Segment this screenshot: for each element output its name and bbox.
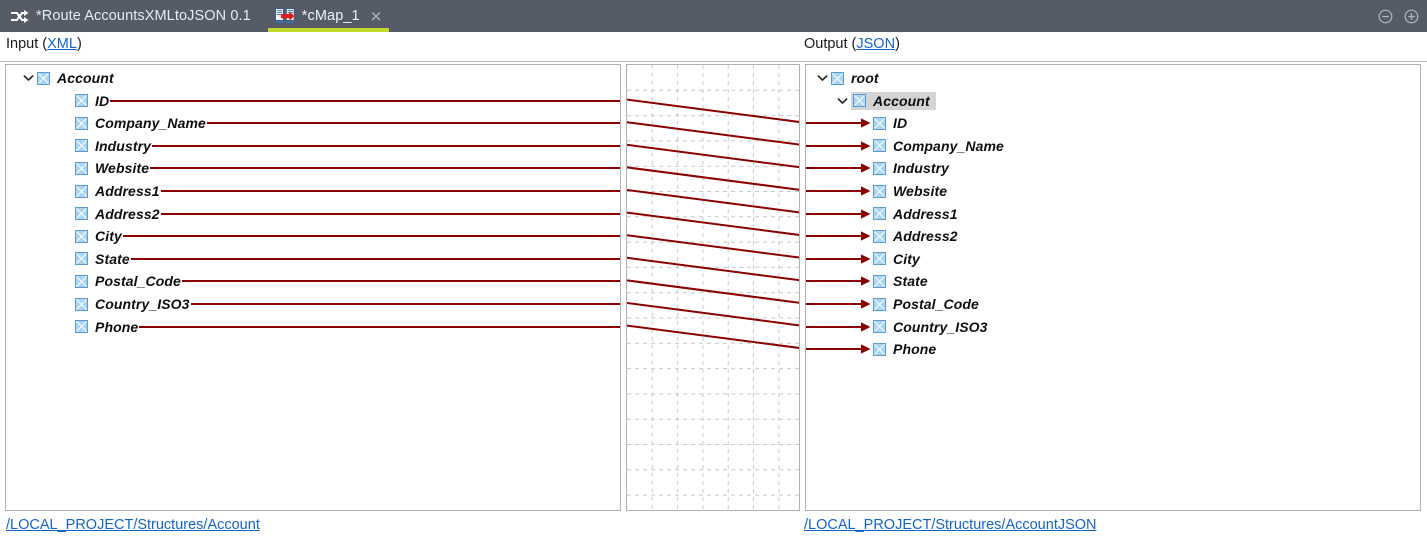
json-element-icon [853,94,866,107]
map-transform-icon [275,7,295,25]
tab-label: *cMap_1 [302,8,360,24]
xml-element-icon [75,275,88,288]
minimize-button[interactable] [1378,9,1393,24]
xml-element-icon [75,207,88,220]
output-label-suffix: ) [895,36,900,52]
mapping-link[interactable] [627,235,800,258]
input-field-label: Website [95,160,149,176]
output-tree-row-group[interactable]: Account [806,90,936,112]
chevron-down-icon[interactable] [834,93,850,109]
xml-element-icon [75,185,88,198]
output-tree-row[interactable]: Company_Name [806,135,1004,157]
input-tree-panel[interactable]: AccountIDCompany_NameIndustryWebsiteAddr… [5,64,621,511]
input-link-stub[interactable] [123,235,620,237]
json-element-icon [873,252,886,265]
output-label-prefix: Output ( [804,36,856,52]
input-link-stub[interactable] [161,190,620,192]
incoming-link-arrow[interactable] [806,250,873,273]
panel-labels: Input (XML) Output (JSON) [0,32,1427,61]
mapping-link[interactable] [627,167,800,190]
output-tree-row[interactable]: Country_ISO3 [806,316,988,338]
output-tree-panel[interactable]: rootAccountIDCompany_NameIndustryWebsite… [805,64,1421,511]
input-tree-row[interactable]: Industry [6,135,151,157]
json-element-icon [873,320,886,333]
input-link-stub[interactable] [110,100,620,102]
mapping-link[interactable] [627,258,800,281]
close-icon[interactable]: × [370,9,383,24]
xml-element-icon [75,117,88,130]
json-element-icon [873,343,886,356]
title-bar: *Route AccountsXMLtoJSON 0.1 *cMap_1 × [0,0,1427,32]
output-group-label: Account [873,93,930,109]
input-tree-row[interactable]: ID [6,90,109,112]
output-field-label: City [893,251,920,267]
json-element-icon [873,185,886,198]
incoming-link-arrow[interactable] [806,227,873,250]
output-tree-row[interactable]: Postal_Code [806,293,979,315]
output-field-label: Phone [893,341,936,357]
input-field-label: State [95,251,130,267]
input-tree-row[interactable]: Address1 [6,180,160,202]
mapping-link[interactable] [627,303,800,326]
output-tree-row[interactable]: Address1 [806,203,958,225]
json-element-icon [873,207,886,220]
input-link-stub[interactable] [152,145,620,147]
header-divider [0,61,1427,62]
incoming-link-arrow[interactable] [806,318,873,341]
output-group-selected[interactable]: Account [851,92,936,110]
incoming-link-arrow[interactable] [806,182,873,205]
incoming-link-arrow[interactable] [806,114,873,137]
incoming-link-arrow[interactable] [806,137,873,160]
input-label-prefix: Input ( [6,36,47,52]
output-format-link[interactable]: JSON [856,36,895,52]
input-tree-row[interactable]: Country_ISO3 [6,293,190,315]
json-element-icon [873,162,886,175]
input-field-label: Phone [95,319,138,335]
input-field-label: Industry [95,138,151,154]
output-tree-row[interactable]: ID [806,112,907,134]
chevron-down-icon[interactable] [814,70,830,86]
output-field-label: Postal_Code [893,296,979,312]
route-title: *Route AccountsXMLtoJSON 0.1 [34,0,265,32]
input-tree-row[interactable]: State [6,248,130,270]
incoming-link-arrow[interactable] [806,340,873,363]
input-tree-row[interactable]: City [6,225,122,247]
maximize-button[interactable] [1404,9,1419,24]
output-tree-row[interactable]: Website [806,180,947,202]
input-field-label: Country_ISO3 [95,296,190,312]
json-element-icon [873,139,886,152]
input-link-stub[interactable] [150,167,620,169]
output-tree-row[interactable]: Address2 [806,225,958,247]
incoming-link-arrow[interactable] [806,159,873,182]
input-panel-label: Input (XML) [6,36,82,52]
output-tree-row[interactable]: State [806,270,928,292]
xml-element-icon [75,94,88,107]
output-tree-row[interactable]: Phone [806,338,936,360]
input-tree-row[interactable]: Company_Name [6,112,206,134]
output-tree-row-root[interactable]: root [806,67,879,89]
mapping-link[interactable] [627,213,800,236]
input-link-stub[interactable] [191,303,620,305]
json-element-icon [873,117,886,130]
mapping-link[interactable] [627,326,800,349]
output-structure-path-link[interactable]: /LOCAL_PROJECT/Structures/AccountJSON [804,517,1097,533]
json-element-icon [831,72,844,85]
input-link-stub[interactable] [161,213,620,215]
input-structure-path-link[interactable]: /LOCAL_PROJECT/Structures/Account [6,517,260,533]
input-field-label: Company_Name [95,115,206,131]
input-field-label: Address1 [95,183,160,199]
output-field-label: Industry [893,160,949,176]
incoming-link-arrow[interactable] [806,295,873,318]
input-tree-row[interactable]: Phone [6,316,138,338]
input-tree-row[interactable]: Postal_Code [6,270,181,292]
incoming-link-arrow[interactable] [806,205,873,228]
output-field-label: ID [893,115,907,131]
xml-element-icon [75,320,88,333]
input-format-link[interactable]: XML [47,36,77,52]
mapping-link[interactable] [627,122,800,145]
mapping-link[interactable] [627,280,800,303]
input-tree: AccountIDCompany_NameIndustryWebsiteAddr… [6,65,620,510]
mapping-link[interactable] [627,145,800,168]
input-field-label: Address2 [95,206,160,222]
output-field-label: Address2 [893,228,958,244]
input-link-stub[interactable] [182,280,620,282]
window-controls [1378,0,1419,32]
output-tree: rootAccountIDCompany_NameIndustryWebsite… [806,65,1420,510]
output-tree-row[interactable]: Industry [806,157,949,179]
output-field-label: Company_Name [893,138,1004,154]
xml-element-icon [75,252,88,265]
input-label-suffix: ) [77,36,82,52]
input-root-label: Account [57,70,114,86]
mapping-canvas-panel[interactable] [626,64,800,511]
mapping-link[interactable] [627,100,800,123]
mapping-links[interactable] [627,65,800,511]
input-field-label: ID [95,93,109,109]
input-field-label: City [95,228,122,244]
input-link-stub[interactable] [131,258,620,260]
input-link-stub[interactable] [139,326,620,328]
json-element-icon [873,230,886,243]
input-link-stub[interactable] [207,122,620,124]
output-panel-label: Output (JSON) [804,36,900,52]
output-field-label: Address1 [893,206,958,222]
chevron-down-icon[interactable] [20,70,36,86]
xml-element-icon [75,139,88,152]
mapping-link[interactable] [627,190,800,213]
xml-element-icon [75,298,88,311]
incoming-link-arrow[interactable] [806,272,873,295]
tab-cmap-1[interactable]: *cMap_1 × [265,0,393,32]
input-field-label: Postal_Code [95,273,181,289]
json-element-icon [873,275,886,288]
shuffle-arrows-icon [4,0,34,32]
output-field-label: Country_ISO3 [893,319,988,335]
xml-element-icon [37,72,50,85]
output-root-label: root [851,70,879,86]
input-tree-row[interactable]: Address2 [6,203,160,225]
output-tree-row[interactable]: City [806,248,920,270]
json-element-icon [873,298,886,311]
output-field-label: Website [893,183,947,199]
output-field-label: State [893,273,928,289]
xml-element-icon [75,162,88,175]
xml-element-icon [75,230,88,243]
input-tree-row[interactable]: Website [6,157,149,179]
input-tree-row-root[interactable]: Account [6,67,114,89]
